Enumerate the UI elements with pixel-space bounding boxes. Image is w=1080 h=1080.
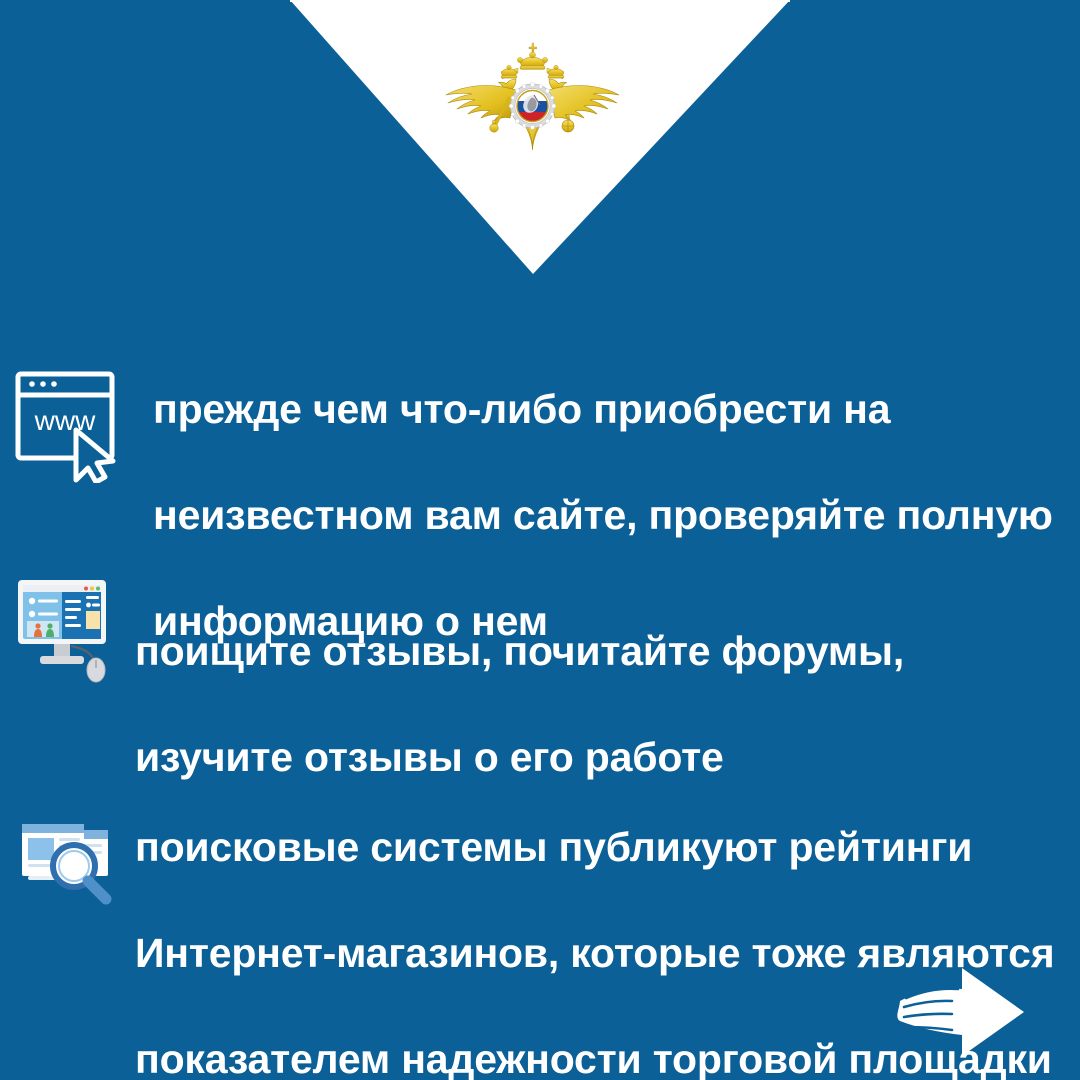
- advice-line: неизвестном вам сайте, проверяйте полную: [153, 489, 1053, 542]
- next-arrow[interactable]: [890, 965, 1060, 1065]
- header-banner: [0, 0, 1080, 276]
- next-swoosh-arrow-icon[interactable]: [890, 965, 1060, 1065]
- svg-text:www: www: [34, 405, 96, 436]
- infographic-poster: www прежде чем что-либо приобрести на не…: [0, 0, 1080, 1080]
- desktop-monitor-reviews-icon: [14, 576, 114, 684]
- www-browser-cursor-icon: www: [10, 368, 128, 483]
- advice-line: поисковые системы публикуют рейтинги: [135, 821, 1055, 874]
- advice-line: прежде чем что-либо приобрести на: [153, 383, 1053, 436]
- advice-line: поищите отзывы, почитайте форумы,: [135, 625, 904, 678]
- mvd-emblem: [430, 38, 635, 163]
- browser-search-magnifier-icon: [8, 816, 128, 906]
- mvd-double-headed-eagle-emblem: [430, 38, 635, 163]
